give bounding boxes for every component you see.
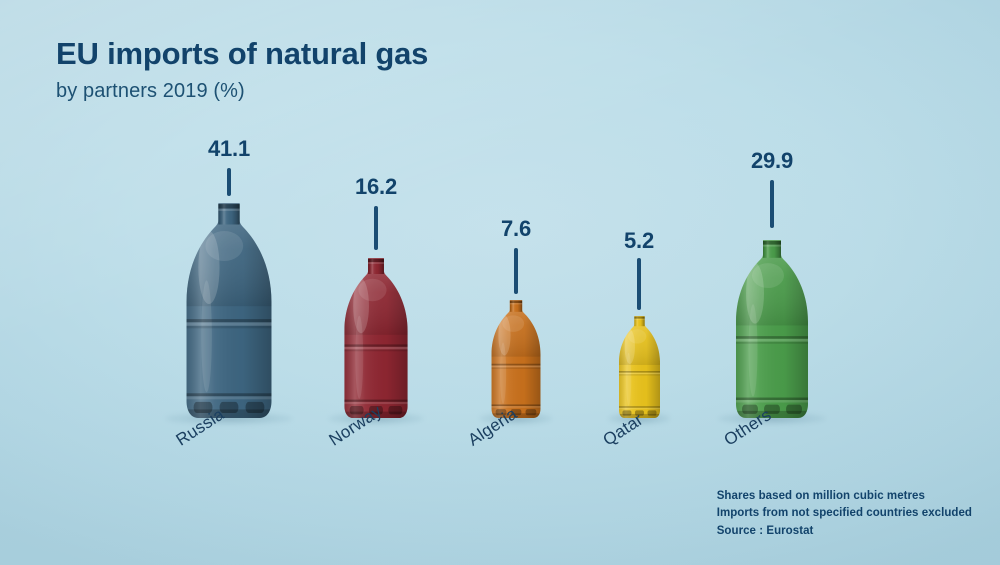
value-label-russia: 41.1 <box>208 136 250 162</box>
page-title: EU imports of natural gas <box>56 38 428 71</box>
value-label-others: 29.9 <box>751 148 793 174</box>
footnote-line-1: Shares based on million cubic metres <box>717 488 972 506</box>
gas-cylinder-shape <box>482 300 550 418</box>
leader-line-others <box>770 180 774 228</box>
infographic-canvas: EU imports of natural gas by partners 20… <box>0 0 1000 565</box>
source-footnote: Shares based on million cubic metres Imp… <box>717 488 972 541</box>
footnote-line-2: Imports from not specified countries exc… <box>717 505 972 523</box>
gas-cylinder-shape <box>722 240 822 418</box>
page-subtitle: by partners 2019 (%) <box>56 80 428 103</box>
value-label-norway: 16.2 <box>355 174 397 200</box>
value-label-qatar: 5.2 <box>624 228 654 254</box>
leader-line-algeria <box>514 248 518 294</box>
bar-group-russia <box>170 203 288 418</box>
bar-group-norway <box>332 258 420 418</box>
value-label-algeria: 7.6 <box>501 216 531 242</box>
leader-line-qatar <box>637 258 641 310</box>
bar-group-algeria <box>482 300 550 418</box>
header: EU imports of natural gas by partners 20… <box>56 38 428 103</box>
bar-group-qatar <box>611 316 668 418</box>
leader-line-norway <box>374 206 378 250</box>
gas-cylinder-shape <box>332 258 420 418</box>
bar-group-others <box>722 240 822 418</box>
gas-cylinder-shape <box>170 203 288 418</box>
leader-line-russia <box>227 168 231 196</box>
footnote-line-3: Source : Eurostat <box>717 523 972 541</box>
gas-cylinder-shape <box>611 316 668 418</box>
